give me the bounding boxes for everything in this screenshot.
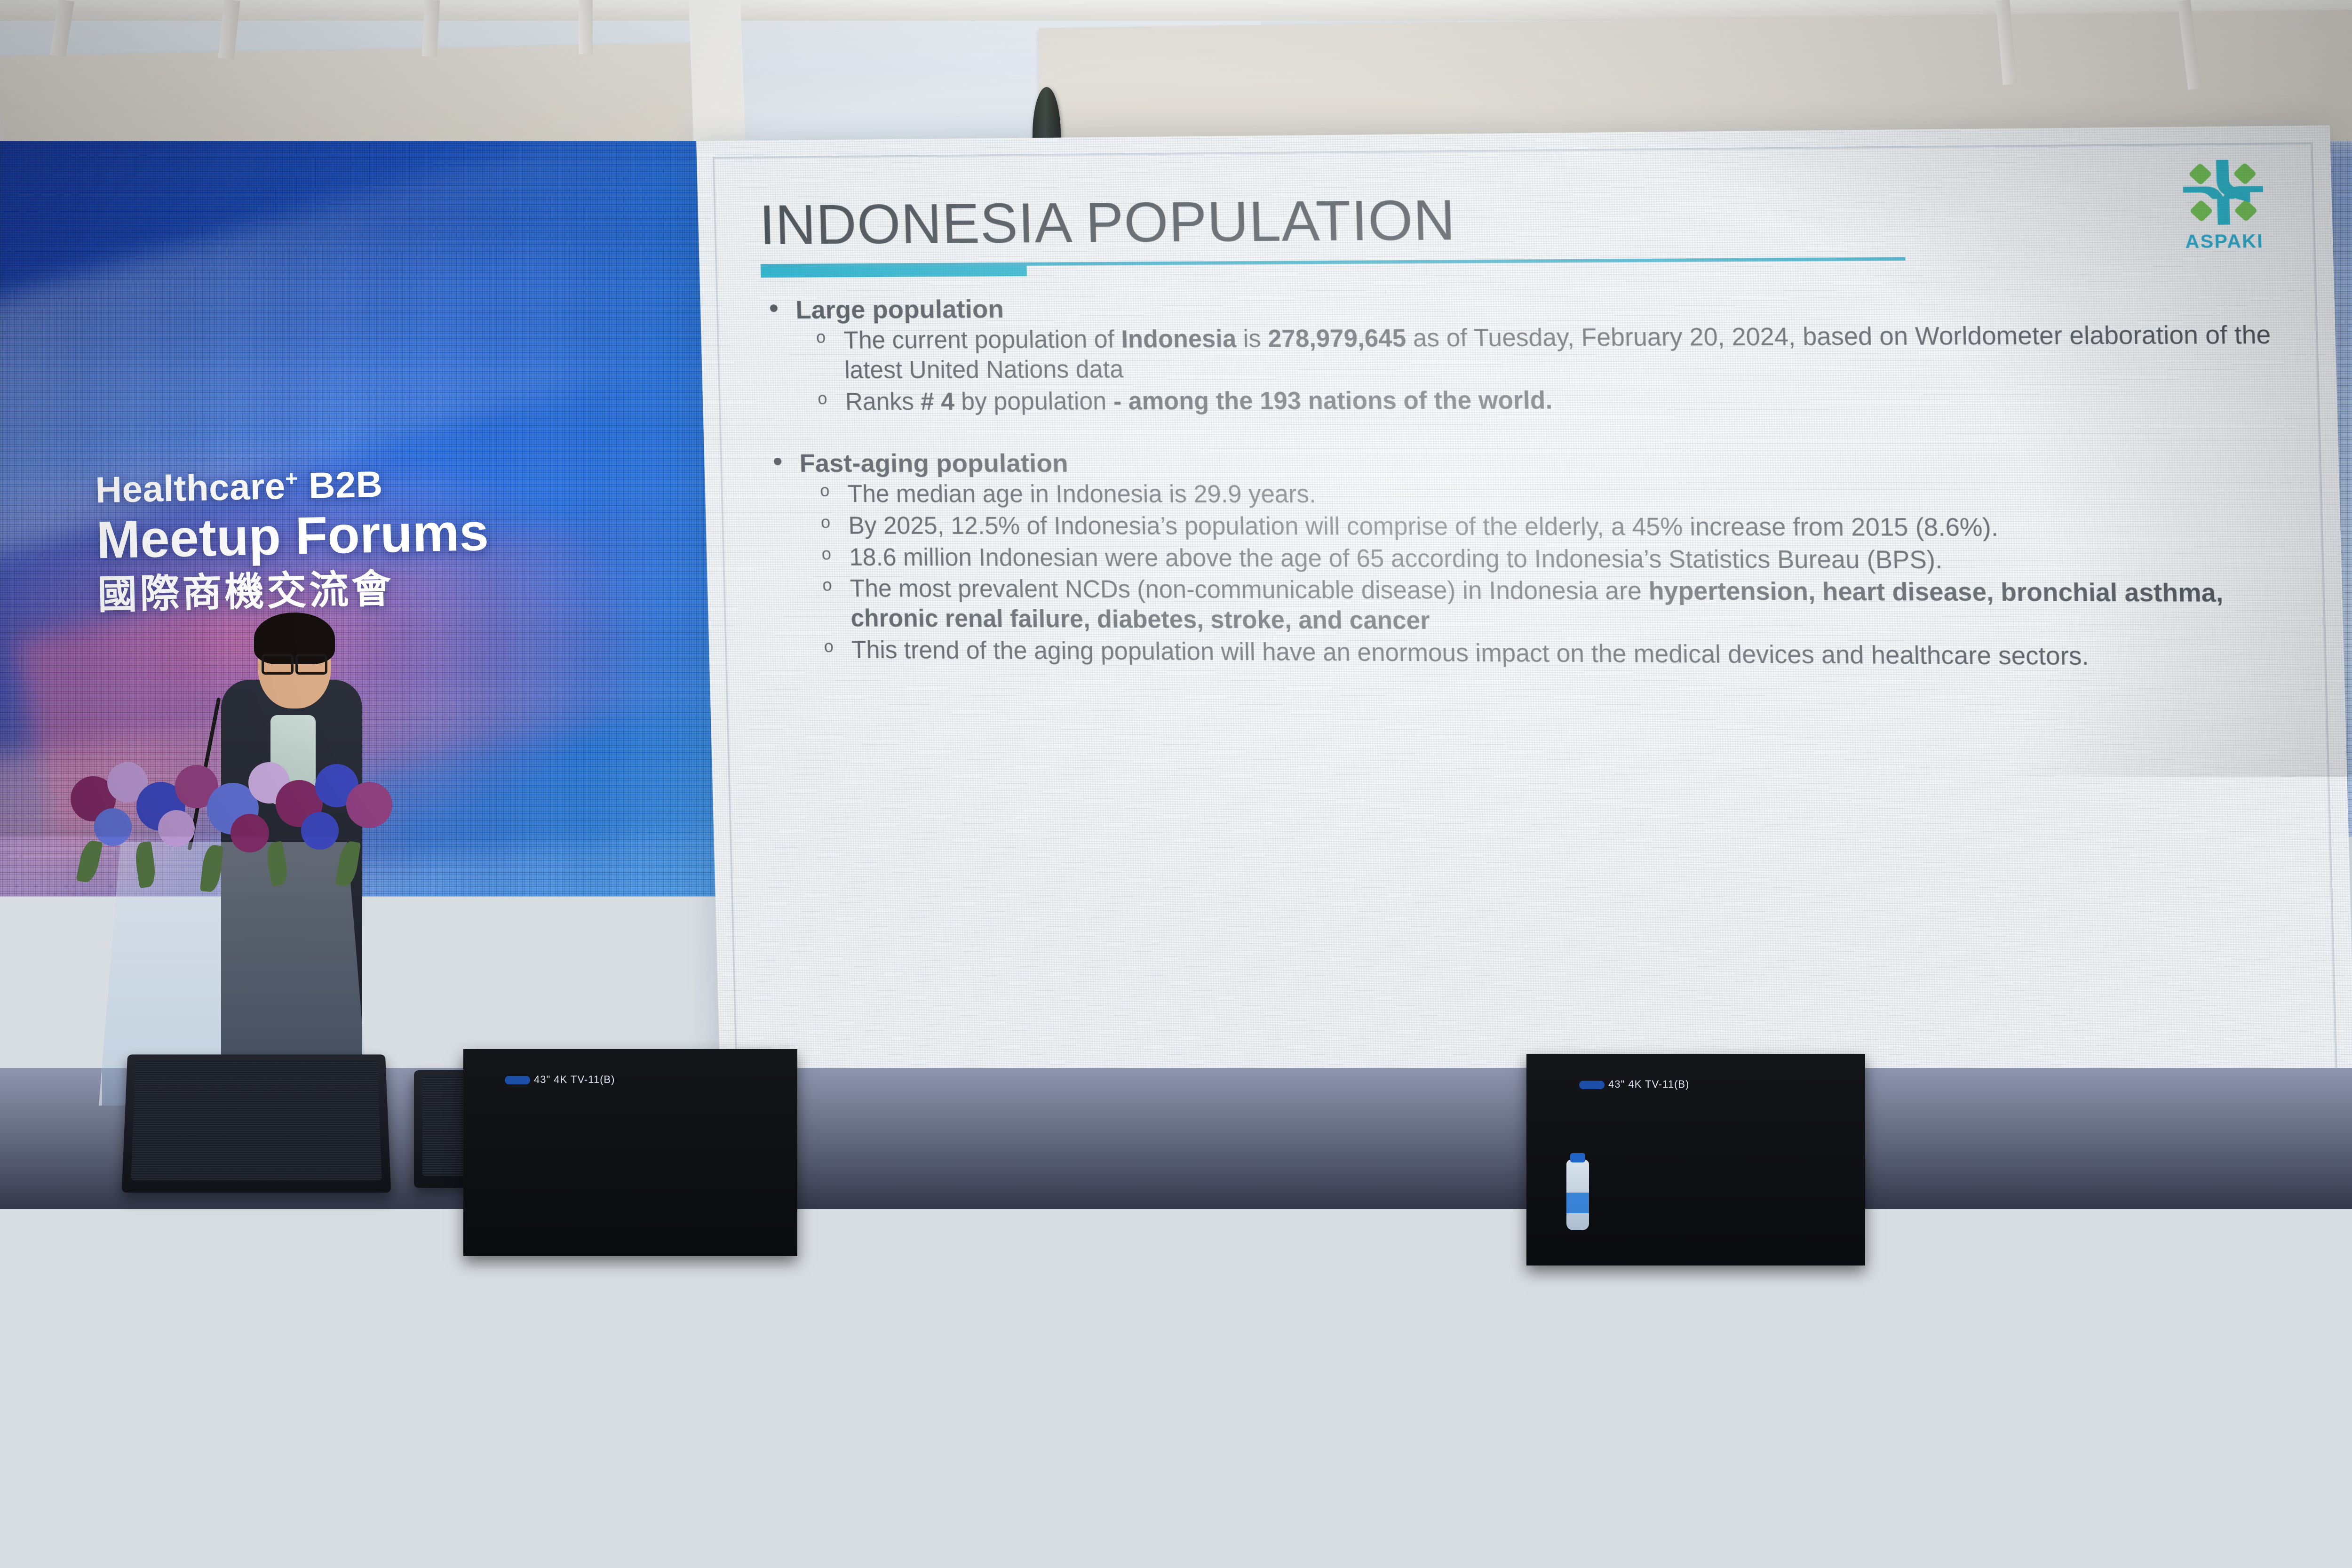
podium-flower-arrangement [66,748,405,884]
sub-bullet-above-65: 18.6 million Indonesian were above the a… [849,542,2285,576]
conference-photo-scene: Healthcare+ B2B Meetup Forums 國際商機交流會 IN… [0,0,2352,1568]
slide-title: INDONESIA POPULATION [759,188,1456,257]
aspaki-wordmark: ASPAKI [2165,231,2284,253]
roof-strut-3 [422,0,440,57]
sub-bullet-ncds: The most prevalent NCDs (non-communicabl… [850,574,2287,640]
bullet-fast-aging-population: Fast-aging population [799,448,2282,478]
sub-bullet-elderly-2025: By 2025, 12.5% of Indonesia’s population… [848,511,2284,543]
aspaki-logo: ASPAKI [2163,156,2284,253]
sub-bullet-current-population: The current population of Indonesia is 2… [843,320,2280,385]
sub-bullet-median-age: The median age in Indonesia is 29.9 year… [847,479,2283,510]
bullet-spacer [759,414,2282,449]
ceiling-column [689,0,746,156]
roof-strut-4 [579,0,593,54]
sub-bullet-rank: Ranks # 4 by population - among the 193 … [845,384,2281,417]
ceiling-panel-left [0,43,692,157]
banner-line-1: Healthcare+ B2B [95,460,651,509]
audience [0,1013,2352,1568]
banner-line-2: Meetup Forums [96,501,652,568]
slide-body: Large population The current population … [755,288,2288,673]
event-banner: Healthcare+ B2B Meetup Forums 國際商機交流會 [95,460,653,617]
speaker-glasses-icon [262,654,327,670]
aspaki-figure-logo-icon [2174,157,2273,231]
slide-rule-thick [761,266,1027,278]
